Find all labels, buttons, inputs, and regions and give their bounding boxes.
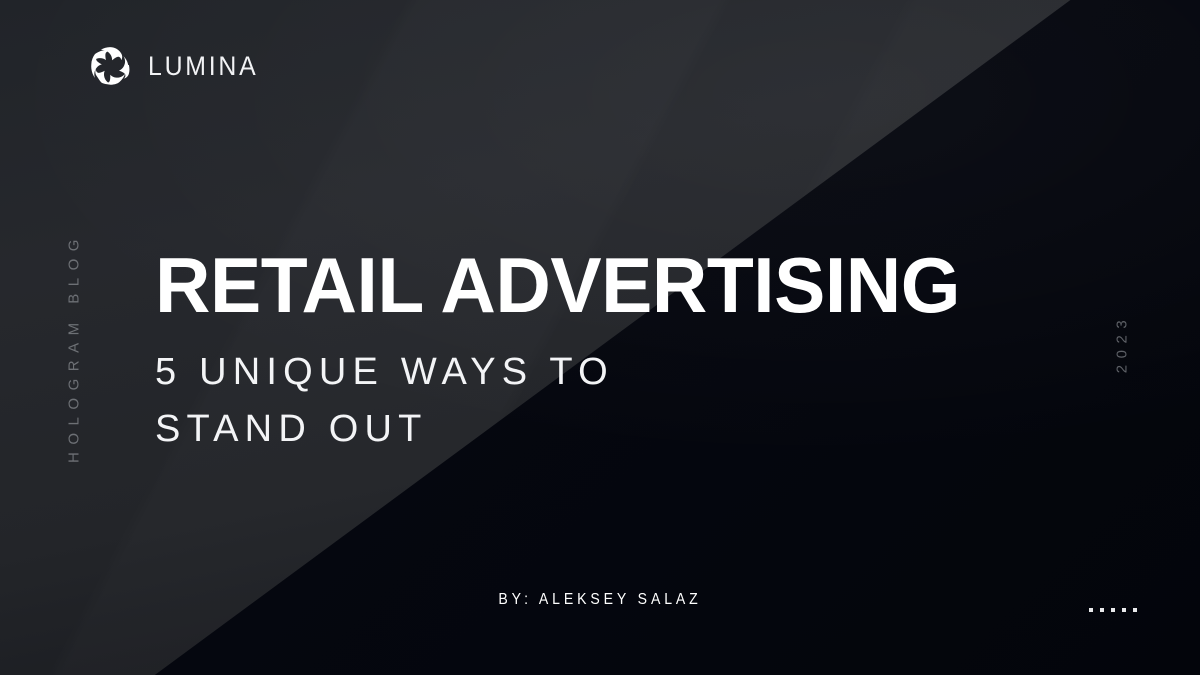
page-title: RETAIL ADVERTISING (155, 250, 960, 322)
dot (1122, 608, 1126, 612)
dot (1133, 608, 1137, 612)
slide-canvas: LUMINA HOLOGRAM BLOG 2023 RETAIL ADVERTI… (0, 0, 1200, 675)
decorative-dots (1089, 608, 1137, 612)
vertical-label-year: 2023 (1115, 264, 1130, 424)
dot (1089, 608, 1093, 612)
dot (1100, 608, 1104, 612)
vertical-label-blog: HOLOGRAM BLOG (67, 228, 82, 468)
brand-name: LUMINA (148, 53, 258, 80)
dot (1111, 608, 1115, 612)
aperture-icon (88, 44, 132, 88)
page-subtitle: 5 UNIQUE WAYS TO STAND OUT (155, 344, 972, 458)
author-byline: BY: ALEKSEY SALAZ (72, 591, 1128, 609)
brand-logo[interactable]: LUMINA (88, 44, 268, 88)
title-block: RETAIL ADVERTISING 5 UNIQUE WAYS TO STAN… (155, 250, 972, 458)
